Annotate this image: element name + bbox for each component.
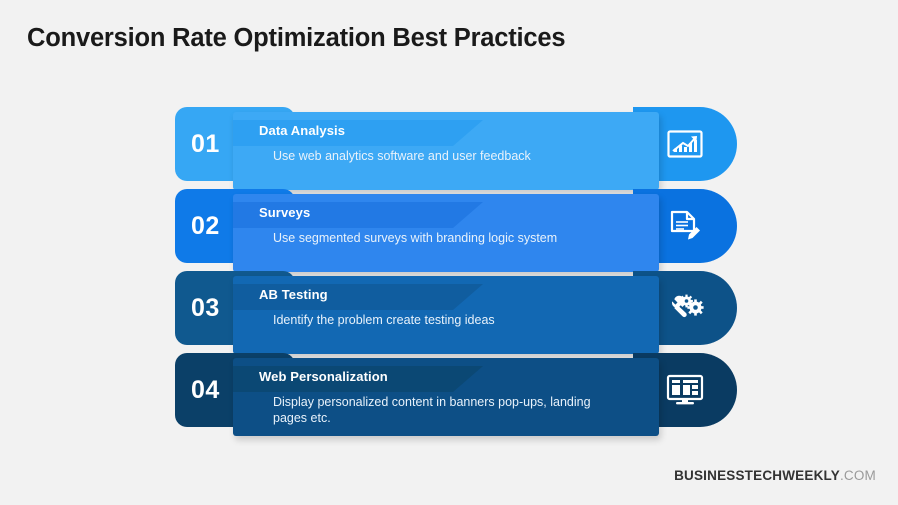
content-panel: Surveys Use segmented surveys with brand… bbox=[233, 194, 659, 272]
item-title: Data Analysis bbox=[259, 123, 345, 138]
list-item[interactable]: 03 bbox=[175, 271, 737, 345]
content-panel: AB Testing Identify the problem create t… bbox=[233, 276, 659, 354]
item-description: Identify the problem create testing idea… bbox=[273, 312, 645, 328]
wrench-gears-icon bbox=[666, 292, 704, 324]
step-number: 02 bbox=[191, 212, 220, 241]
step-number: 04 bbox=[191, 376, 220, 405]
document-pencil-icon bbox=[668, 209, 702, 243]
list-item[interactable]: 04 Web Personalization Display bbox=[175, 353, 737, 427]
item-title: AB Testing bbox=[259, 287, 328, 302]
list-item[interactable]: 01 Data Analysis Use web analytics softw bbox=[175, 107, 737, 181]
item-description: Display personalized content in banners … bbox=[273, 394, 645, 426]
content-panel: Web Personalization Display personalized… bbox=[233, 358, 659, 436]
page-title: Conversion Rate Optimization Best Practi… bbox=[27, 24, 565, 53]
item-title: Web Personalization bbox=[259, 369, 388, 384]
desktop-monitor-layout-icon bbox=[666, 374, 704, 406]
item-description: Use segmented surveys with branding logi… bbox=[273, 230, 645, 246]
list-item[interactable]: 02 Surveys Use segmented surveys with br… bbox=[175, 189, 737, 263]
step-number: 01 bbox=[191, 130, 220, 159]
logo-tld: .COM bbox=[840, 468, 876, 483]
step-number: 03 bbox=[191, 294, 220, 323]
logo-brand: BUSINESSTECHWEEKLY bbox=[674, 468, 840, 483]
item-title: Surveys bbox=[259, 205, 310, 220]
practice-list: 01 Data Analysis Use web analytics softw bbox=[175, 107, 737, 435]
site-logo: BUSINESSTECHWEEKLY.COM bbox=[674, 468, 876, 483]
bar-chart-growth-icon bbox=[667, 129, 703, 159]
content-panel: Data Analysis Use web analytics software… bbox=[233, 112, 659, 190]
item-description: Use web analytics software and user feed… bbox=[273, 148, 645, 164]
